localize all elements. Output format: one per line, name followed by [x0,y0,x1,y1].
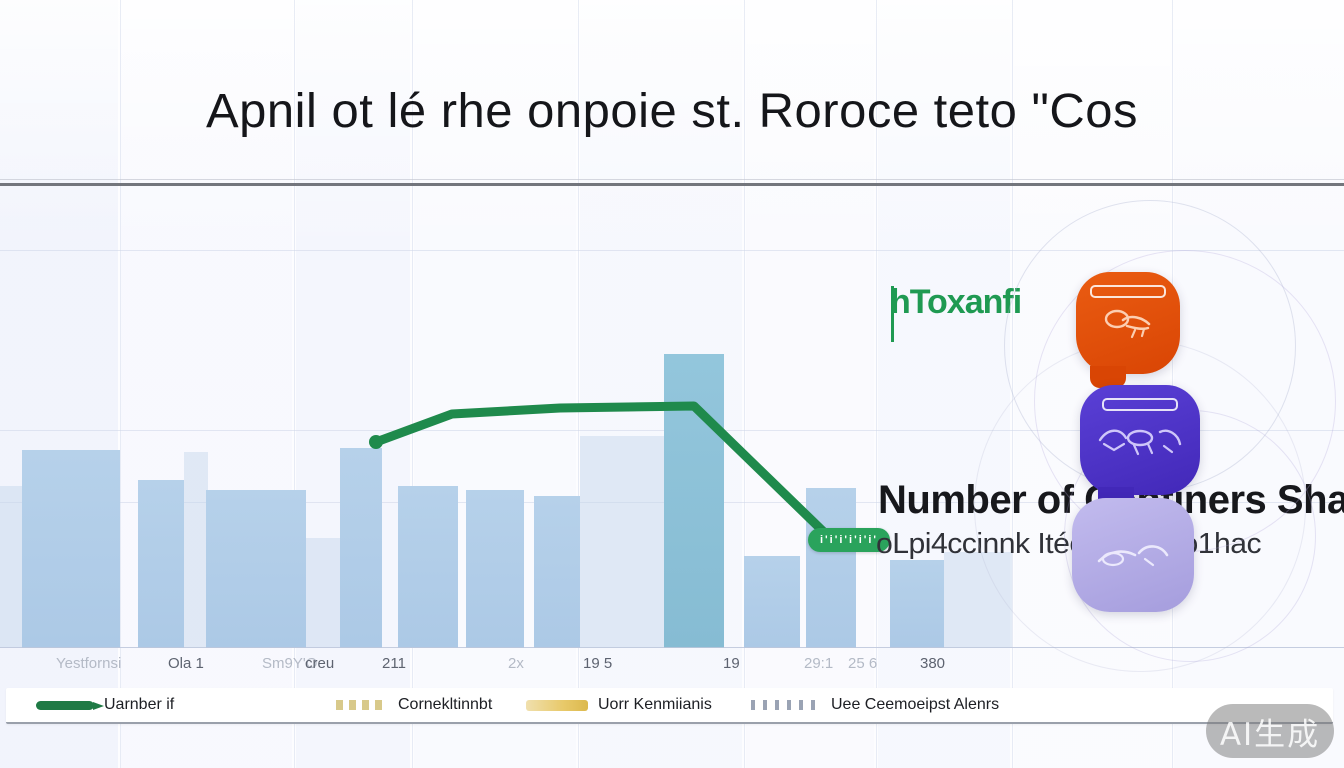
legend-item[interactable]: Uarnber if [36,696,174,714]
legend-item-label: Uarnber if [104,696,174,714]
x-tick-label: 19 [723,655,740,672]
chart-canvas: Apnil ot lé rhe onpoie st. Roroce teto "… [0,0,1344,768]
header-rule-soft [0,179,1344,180]
bar-ghost [580,436,664,648]
bar-ghost [944,552,1012,648]
bar[interactable] [466,490,524,648]
bar[interactable] [806,488,856,648]
legend-item-label: Uorr Kenmiianis [598,696,712,714]
page-title: Apnil ot lé rhe onpoie st. Roroce teto "… [0,84,1344,139]
x-tick-label: 29:1 [804,655,833,672]
plot-area [0,186,1344,648]
legend-item-label: Cornekltinnbt [398,696,492,714]
chart-legend[interactable]: Uarnber ifCornekltinnbtUorr KenmiianisUe… [6,688,1333,724]
overlay-subheading: oLpi4ccinnk Itéè1|X fluJo1hac [876,528,1261,561]
green-annotation-text: hToxanfi [890,283,1021,322]
x-tick-label: creu [305,655,334,672]
x-tick-label: Ola 1 [168,655,204,672]
bar-ghost [306,538,340,648]
bar[interactable] [340,448,382,648]
bar[interactable] [138,480,184,648]
x-axis-line [0,647,1344,648]
bar[interactable] [664,354,724,648]
x-tick-label: 2x [508,655,524,672]
legend-swatch-dashes-icon [336,700,388,710]
x-tick-label: 211 [382,655,406,672]
x-tick-label: 19 5 [583,655,612,672]
legend-swatch-bar-icon [526,700,588,711]
gridline-horizontal [0,250,1344,251]
bar[interactable] [22,450,120,648]
bar[interactable] [744,556,800,648]
bar[interactable] [534,496,580,648]
bar[interactable] [398,486,458,648]
legend-item[interactable]: Uorr Kenmiianis [526,696,712,714]
overlay-heading: Number of Continers Sharr [878,478,1344,523]
legend-item[interactable]: Cornekltinnbt [336,696,492,714]
x-axis-tick-labels: YestfornsiOla 1Sm9Y'Ocreu2112x19 51929:1… [0,655,1344,685]
legend-swatch-line-icon [36,701,94,710]
legend-swatch-dots-icon [751,700,821,710]
bar[interactable] [890,560,944,648]
x-tick-label: 380 [920,655,945,672]
x-tick-label: 25 6 [848,655,877,672]
ai-generated-watermark: AI生成 [1206,704,1334,758]
bar-ghost [0,486,24,648]
bar-ghost [184,452,208,648]
bar[interactable] [206,490,306,648]
x-tick-label: Yestfornsi [56,655,121,672]
legend-item-label: Uee Ceemoeipst Alenrs [831,696,999,714]
legend-item[interactable]: Uee Ceemoeipst Alenrs [751,696,999,714]
